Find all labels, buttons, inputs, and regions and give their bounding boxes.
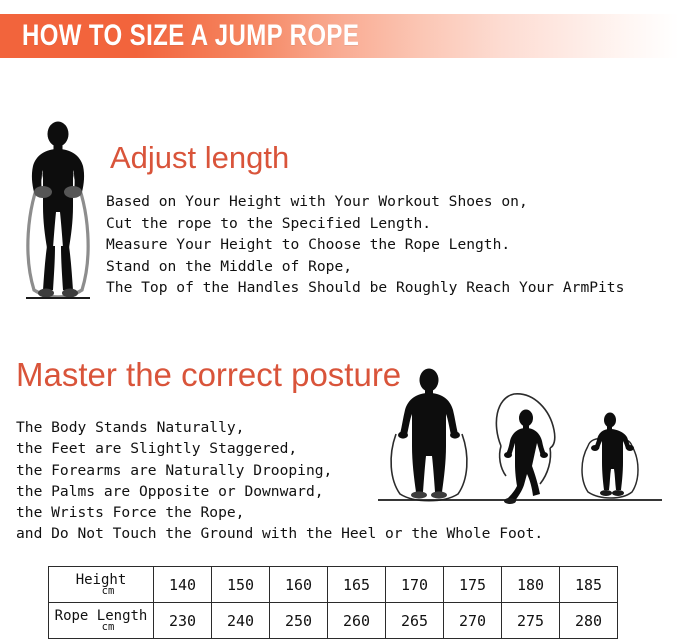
- row-label-rope-length-text: Rope Length: [51, 609, 151, 623]
- height-value-3: 165: [328, 567, 386, 603]
- table-row-height: Height cm 140 150 160 165 170 175 180 18…: [49, 567, 618, 603]
- row-label-rope-length: Rope Length cm: [49, 603, 154, 639]
- rope-length-value-5: 270: [444, 603, 502, 639]
- height-value-4: 170: [386, 567, 444, 603]
- height-value-6: 180: [502, 567, 560, 603]
- rope-length-value-0: 230: [154, 603, 212, 639]
- rope-length-value-7: 280: [560, 603, 618, 639]
- size-chart-table: Height cm 140 150 160 165 170 175 180 18…: [48, 566, 618, 639]
- height-value-1: 150: [212, 567, 270, 603]
- jumping-figures-illustration: [374, 368, 666, 506]
- height-value-5: 175: [444, 567, 502, 603]
- height-value-7: 185: [560, 567, 618, 603]
- rope-length-value-1: 240: [212, 603, 270, 639]
- height-value-0: 140: [154, 567, 212, 603]
- adjust-length-body-text: Based on Your Height with Your Workout S…: [106, 191, 624, 299]
- table-row-rope-length: Rope Length cm 230 240 250 260 265 270 2…: [49, 603, 618, 639]
- standing-figure-illustration: [12, 118, 104, 310]
- page-title: HOW TO SIZE A JUMP ROPE: [22, 16, 359, 56]
- height-value-2: 160: [270, 567, 328, 603]
- adjust-length-heading: Adjust length: [110, 140, 289, 176]
- figure-large: [391, 369, 467, 501]
- rope-length-value-2: 250: [270, 603, 328, 639]
- rope-length-value-4: 265: [386, 603, 444, 639]
- rope-length-value-3: 260: [328, 603, 386, 639]
- figure-small: [582, 413, 638, 499]
- rope-length-value-6: 275: [502, 603, 560, 639]
- row-label-height: Height cm: [49, 567, 154, 603]
- posture-heading: Master the correct posture: [16, 356, 401, 394]
- row-label-height-text: Height: [51, 573, 151, 587]
- figure-middle: [496, 394, 554, 504]
